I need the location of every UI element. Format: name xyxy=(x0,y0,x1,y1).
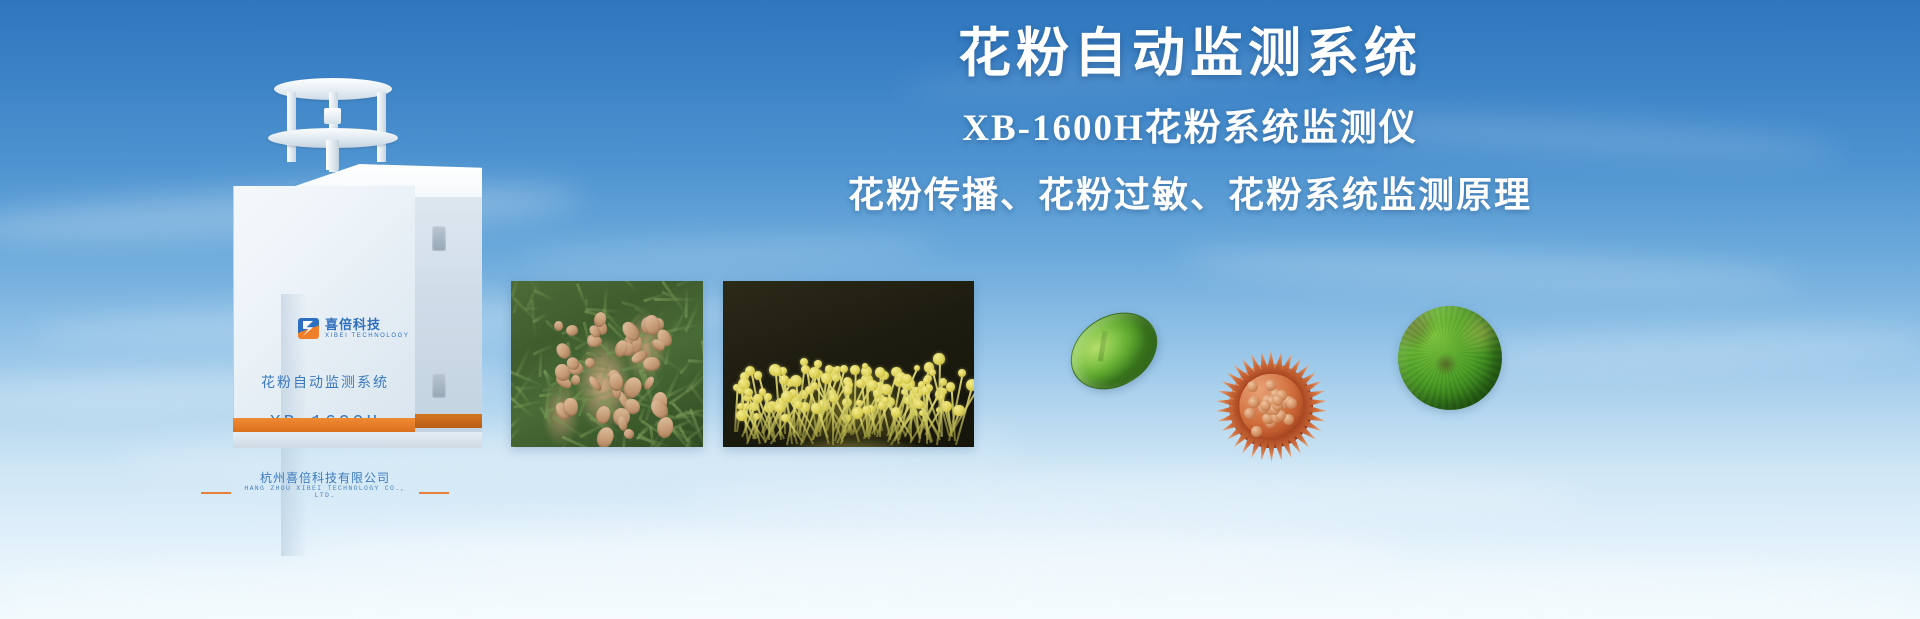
cedar-needle xyxy=(511,425,521,446)
cabinet-orange-base-stripe xyxy=(233,418,415,432)
anther xyxy=(811,382,819,390)
cedar-needle xyxy=(515,345,532,376)
anther xyxy=(958,369,966,377)
pollen-monitoring-banner: 花粉自动监测系统 XB-1600H花粉系统监测仪 花粉传播、花粉过敏、花粉系统监… xyxy=(0,0,1920,619)
anther xyxy=(929,369,936,376)
cedar-needle xyxy=(547,409,550,434)
pollen-surface-bump xyxy=(1272,395,1283,406)
cedar-needle xyxy=(511,441,524,447)
cedar-needle xyxy=(533,344,556,356)
anther xyxy=(794,401,803,410)
green-sphere-pollen-grain xyxy=(1398,306,1502,410)
device-brand-name-en: XIBEI TECHNOLOGY xyxy=(325,333,410,339)
cloud-wisp xyxy=(0,560,1920,619)
sampler-post xyxy=(287,92,296,162)
cloud-wisp xyxy=(520,233,941,274)
anther xyxy=(914,365,920,371)
anther xyxy=(775,403,785,413)
device-company-en: HANG ZHOU XIBEI TECHNOLOGY CO., LTD. xyxy=(234,485,416,499)
cabinet-foot xyxy=(233,432,482,448)
cedar-needle xyxy=(576,283,588,308)
cabinet-door-handle-upper[interactable] xyxy=(432,226,446,251)
device-divider-rule-right xyxy=(419,492,449,494)
pollen-monitor-device: 喜倍科技 XIBEI TECHNOLOGY 花粉自动监测系统 XB-1600H … xyxy=(186,78,486,448)
yellow-catkin-stamens-photo xyxy=(723,281,974,447)
xibei-logo-icon xyxy=(298,318,319,339)
anther xyxy=(744,388,753,397)
device-product-name: 花粉自动监测系统 xyxy=(234,372,416,392)
pollen-body xyxy=(1056,297,1171,405)
anther xyxy=(862,363,868,369)
device-divider-rule-left xyxy=(201,492,231,494)
anther xyxy=(915,400,924,409)
cedar-needle xyxy=(560,440,568,447)
anther xyxy=(966,379,974,391)
cedar-needle xyxy=(552,416,591,442)
anther xyxy=(840,365,848,373)
cedar-needle xyxy=(511,281,521,297)
anther xyxy=(875,367,885,377)
red-spiky-pollen-grain xyxy=(1215,350,1327,462)
green-oval-pollen-grain xyxy=(1068,316,1160,386)
cloud-wisp xyxy=(680,470,1580,522)
cedar-pollen-cone xyxy=(565,324,579,337)
cedar-needle xyxy=(539,346,543,377)
sampler-post xyxy=(377,92,386,162)
cloud-wisp xyxy=(1179,239,1800,301)
cabinet-door-handle-lower[interactable] xyxy=(432,373,446,398)
pollen-texture xyxy=(1398,306,1502,410)
cedar-needle xyxy=(676,281,694,287)
anther xyxy=(946,382,955,391)
cedar-pollen-cone xyxy=(609,373,623,391)
device-brand-name-cn: 喜倍科技 xyxy=(325,318,410,332)
anther xyxy=(882,397,889,404)
sampler-inlet xyxy=(324,108,341,124)
anther xyxy=(790,375,802,387)
sampler-stem xyxy=(326,140,339,170)
feature-tagline: 花粉传播、花粉过敏、花粉系统监测原理 xyxy=(600,173,1780,216)
page-title: 花粉自动监测系统 xyxy=(600,24,1780,85)
anther xyxy=(891,407,902,418)
anther xyxy=(933,353,945,365)
pollen-surface-bump xyxy=(1265,380,1276,391)
cloud-wisp xyxy=(1449,322,1920,377)
cedar-needle xyxy=(620,281,639,293)
cloud-wisp xyxy=(300,520,1400,580)
device-company-cn: 杭州喜倍科技有限公司 xyxy=(234,469,416,486)
device-brand-text: 喜倍科技 XIBEI TECHNOLOGY xyxy=(325,318,410,339)
headline-block: 花粉自动监测系统 XB-1600H花粉系统监测仪 花粉传播、花粉过敏、花粉系统监… xyxy=(600,24,1780,217)
product-subtitle: XB-1600H花粉系统监测仪 xyxy=(600,107,1780,151)
anther xyxy=(881,384,892,395)
anther xyxy=(834,366,841,373)
anther xyxy=(781,391,793,403)
anther xyxy=(862,406,871,415)
cabinet-orange-base-side xyxy=(415,414,482,428)
cedar-pollen-cone xyxy=(554,320,564,331)
cabinet-side-panel xyxy=(415,197,482,448)
anther xyxy=(850,365,859,374)
device-brand-logo: 喜倍科技 XIBEI TECHNOLOGY xyxy=(298,318,410,339)
cedar-pollen-cones-photo xyxy=(511,281,703,447)
anther xyxy=(773,367,782,376)
cabinet-front-door: 喜倍科技 XIBEI TECHNOLOGY 花粉自动监测系统 XB-1600H … xyxy=(233,186,415,448)
